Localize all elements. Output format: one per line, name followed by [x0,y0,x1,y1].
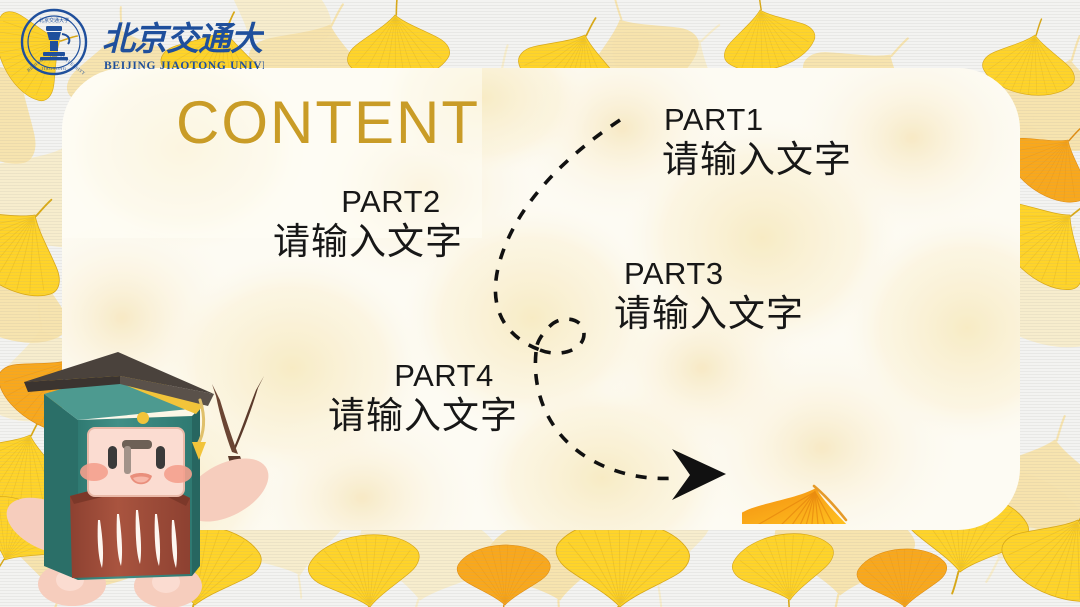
svg-text:北京交通大學: 北京交通大學 [102,19,264,58]
page-title: CONTENT [176,88,480,157]
slide-canvas: 北京交通大学 BEIJING JIAOTONG UNIVERSITY 1896 … [0,0,1080,607]
logo-chinese-name: 北京交通大學 [102,19,264,58]
part1-label: PART1 [664,104,852,137]
content-item-part3[interactable]: PART3 请输入文字 [624,258,804,336]
svg-text:JIAOTONG: JIAOTONG [42,66,67,71]
ginkgo-graduate-mascot [0,330,292,607]
pointer-stick-icon [212,376,264,472]
emblem-seal: 北京交通大学 BEIJING JIAOTONG UNIVERSITY 1896 [22,10,87,76]
part4-text: 请输入文字 [316,393,530,438]
svg-text:BEIJING JIAOTONG UNIVERSITY: BEIJING JIAOTONG UNIVERSITY [104,60,264,72]
content-item-part4[interactable]: PART4 请输入文字 [316,360,530,438]
logo-english-name: BEIJING JIAOTONG UNIVERSITY [104,60,264,72]
university-logo: 北京交通大学 BEIJING JIAOTONG UNIVERSITY 1896 … [16,6,264,78]
svg-text:1896: 1896 [49,55,59,60]
part2-label: PART2 [308,186,474,219]
content-item-part2[interactable]: PART2 请输入文字 [262,186,474,264]
part1-text: 请输入文字 [662,137,852,182]
content-item-part1[interactable]: PART1 请输入文字 [664,104,852,182]
svg-text:北京交通大学: 北京交通大学 [39,17,69,24]
part3-label: PART3 [624,258,804,291]
orange-ginkgo-leaf-icon [742,392,902,524]
mascot-face [80,428,192,496]
mascot-gold-button [137,412,149,424]
part3-text: 请输入文字 [614,291,804,336]
part2-text: 请输入文字 [262,219,474,264]
part4-label: PART4 [358,360,530,393]
